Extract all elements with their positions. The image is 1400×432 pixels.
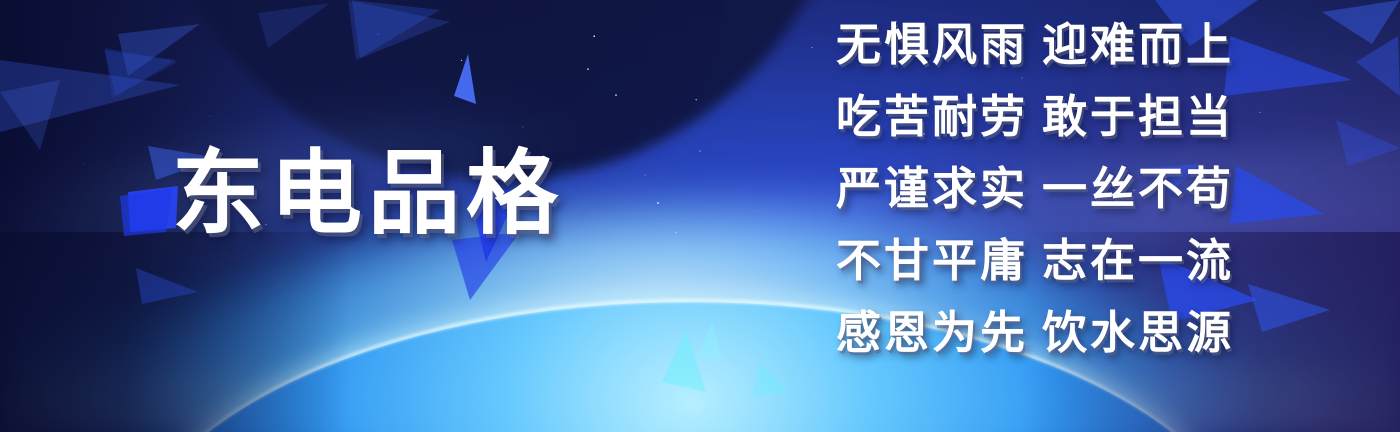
- slogan-phrase-left: 不甘平庸: [836, 238, 1042, 283]
- slogan-phrase-left: 吃苦耐劳: [836, 94, 1042, 139]
- slogan-row: 感恩为先 饮水思源: [836, 310, 1256, 382]
- slogan-phrase-right: 志在一流: [1042, 238, 1234, 283]
- slogan-phrase-left: 感恩为先: [836, 310, 1042, 355]
- company-values-banner: 东电品格 无惧风雨 迎难而上 吃苦耐劳 敢于担当 严谨求实 一丝不苟 不甘平庸 …: [0, 0, 1400, 432]
- triangle-icon: [0, 80, 60, 150]
- triangle-icon: [104, 50, 176, 96]
- slogan-phrase-right: 饮水思源: [1042, 310, 1234, 355]
- slogan-phrase-right: 敢于担当: [1042, 94, 1234, 139]
- slogan-phrase-right: 迎难而上: [1042, 22, 1234, 67]
- triangle-icon: [118, 24, 200, 76]
- slogan-list: 无惧风雨 迎难而上 吃苦耐劳 敢于担当 严谨求实 一丝不苟 不甘平庸 志在一流 …: [836, 22, 1256, 382]
- slogan-row: 严谨求实 一丝不苟: [836, 166, 1256, 238]
- page-title: 东电品格: [172, 148, 564, 240]
- slogan-row: 吃苦耐劳 敢于担当: [836, 94, 1256, 166]
- triangle-icon: [0, 60, 180, 132]
- slogan-phrase-left: 严谨求实: [836, 166, 1042, 211]
- slogan-phrase-right: 一丝不苟: [1042, 166, 1234, 211]
- slogan-row: 无惧风雨 迎难而上: [836, 22, 1256, 94]
- slogan-row: 不甘平庸 志在一流: [836, 238, 1256, 310]
- slogan-phrase-left: 无惧风雨: [836, 22, 1042, 67]
- triangle-icon: [105, 48, 178, 98]
